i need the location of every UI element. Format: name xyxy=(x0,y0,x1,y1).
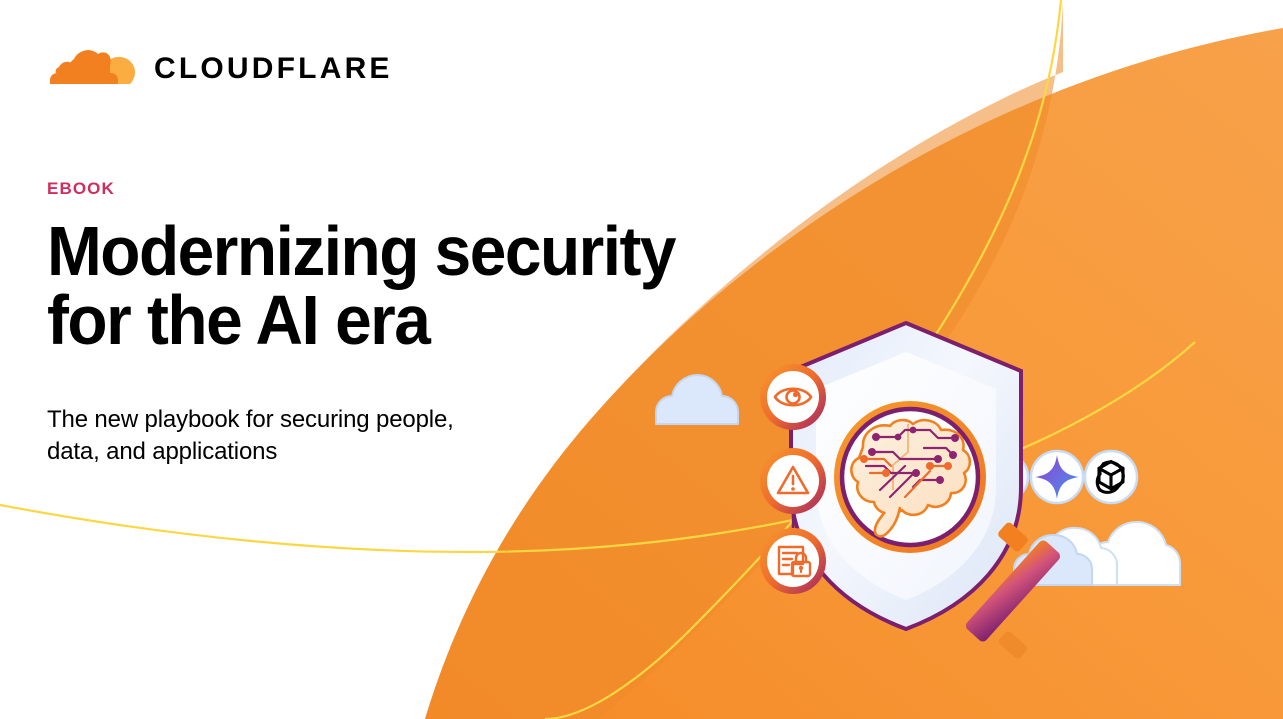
page-subtitle: The new playbook for securing people, da… xyxy=(47,404,767,468)
page-title: Modernizing security for the AI era xyxy=(47,217,724,356)
magnifier-lens xyxy=(834,401,986,553)
ai-logo-openai xyxy=(1085,451,1137,503)
cover-text-block: EBOOK Modernizing security for the AI er… xyxy=(47,180,767,468)
eyebrow-label: EBOOK xyxy=(47,180,767,197)
cloudflare-wordmark: CLOUDFLARE xyxy=(154,54,393,84)
feature-badge-warning xyxy=(760,448,826,514)
cloudflare-cloud-logo-icon xyxy=(47,46,141,91)
ebook-cover: CLOUDFLARE EBOOK Modernizing security fo… xyxy=(0,0,1283,719)
ai-logo-gemini xyxy=(1031,451,1083,503)
cloudflare-logo[interactable]: CLOUDFLARE xyxy=(47,46,393,91)
feature-badge-eye xyxy=(760,364,826,430)
feature-badge-document-lock xyxy=(760,528,826,594)
